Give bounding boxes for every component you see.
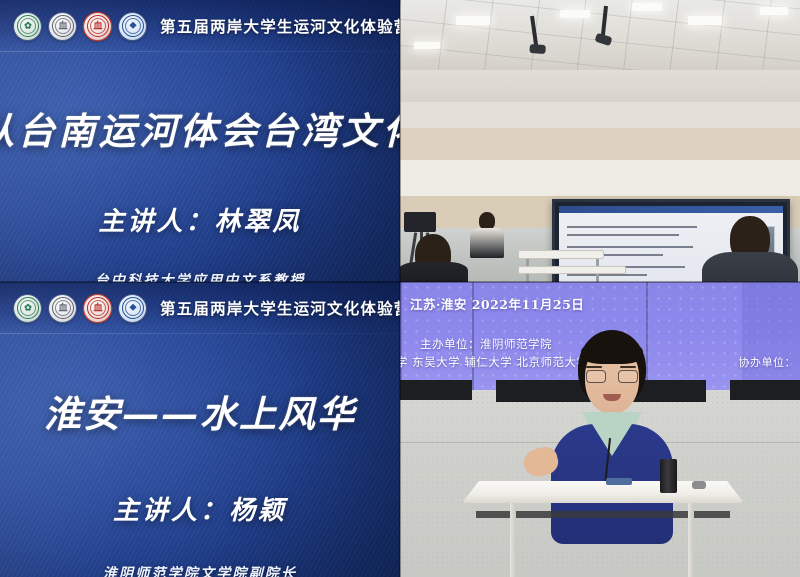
speaker-glasses: [586, 370, 638, 383]
photo-panel-classroom: [400, 0, 800, 282]
vertical-divider: [399, 0, 401, 577]
presenter-desk: [518, 250, 604, 259]
title-slide-top: ✿ 血 血 ❖ 第五届两岸大学生运河文化体验营 从台南运河体会台湾文: [0, 0, 400, 282]
classroom-audience-photo: [400, 0, 800, 282]
classroom-scene: [400, 0, 800, 282]
title-slide-bottom: ✿ 血 血 ❖ 第五届两岸大学生运河文化体验营 淮安——水上风华: [0, 282, 400, 577]
wall-band-tan: [400, 128, 800, 162]
side-table: [518, 266, 626, 274]
speaker-brow-right: [620, 366, 636, 368]
logo-university-blue: ❖: [119, 295, 146, 322]
ceiling-light: [688, 16, 722, 25]
ceiling-light: [414, 42, 440, 49]
dark-backdrop-left: [400, 380, 472, 400]
slide-text-line: [567, 274, 647, 276]
ceiling-light: [760, 7, 788, 15]
speaker-fringe: [581, 340, 643, 364]
projection-right-panel: [742, 282, 800, 394]
event-banner-title: 第五届两岸大学生运河文化体验营: [160, 297, 400, 319]
slide-header-top: ✿ 血 血 ❖ 第五届两岸大学生运河文化体验营: [0, 0, 400, 52]
ceiling-light: [632, 3, 662, 11]
projection-organizer: 主办单位：淮阴师范学院: [420, 336, 552, 352]
smartphone-on-desk: [606, 478, 632, 485]
slide-header-bottom: ✿ 血 血 ❖ 第五届两岸大学生运河文化体验营: [0, 282, 400, 334]
dark-backdrop-right: [730, 380, 800, 400]
wall-band-cream: [400, 160, 800, 198]
slide-text-line: [567, 234, 679, 236]
slide-text-line: [567, 226, 697, 228]
small-object-on-desk: [692, 481, 706, 489]
wall-upper: [400, 70, 800, 104]
horizontal-divider: [0, 281, 800, 283]
slide-body-top: 从台南运河体会台湾文化 主讲人：林翠凤 台中科技大学应用中文系教授: [0, 52, 400, 282]
slide-speaker-top: 主讲人：林翠凤: [98, 201, 301, 238]
desk-leg: [510, 503, 516, 577]
projection-coorganizer: 协办单位：: [739, 354, 797, 370]
foreground-student-left: [400, 234, 468, 282]
header-underline: [0, 333, 400, 334]
slide-title-bar: [559, 206, 783, 213]
slide-title-bottom: 淮安——水上风华: [44, 384, 356, 438]
logo-university-red: 血: [84, 295, 111, 322]
logo-university-red: 血: [84, 13, 111, 40]
lecture-room-scene: 江苏·淮安 2022年11月25日 主办单位：淮阴师范学院 学 东吴大学 辅仁大…: [400, 282, 800, 577]
lecture-desk: [462, 481, 744, 577]
header-underline: [0, 51, 400, 52]
slide-speaker-bottom: 主讲人：杨颖: [113, 490, 287, 527]
ceiling-light: [456, 16, 490, 25]
photo-panel-lecture: 江苏·淮安 2022年11月25日 主办单位：淮阴师范学院 学 东吴大学 辅仁大…: [400, 282, 800, 577]
logo-huaiyin-normal-university: ✿: [14, 13, 41, 40]
logo-university-grey: 血: [49, 13, 76, 40]
screenshot-collage: ✿ 血 血 ❖ 第五届两岸大学生运河文化体验营 从台南运河体会台湾文: [0, 0, 800, 577]
speaker-brow-left: [586, 366, 602, 368]
thermos-flask: [660, 459, 677, 493]
slide-panel-top-left: ✿ 血 血 ❖ 第五届两岸大学生运河文化体验营 从台南运河体会台湾文: [0, 0, 400, 282]
video-camera: [404, 212, 436, 232]
logo-university-grey: 血: [49, 295, 76, 322]
wall-band-light: [400, 102, 800, 130]
slide-affiliation-bottom: 淮阴师范学院文学院副院长: [103, 563, 297, 577]
speaker-at-desk-photo: 江苏·淮安 2022年11月25日 主办单位：淮阴师范学院 学 东吴大学 辅仁大…: [400, 282, 800, 577]
logo-huaiyin-normal-university: ✿: [14, 295, 41, 322]
slide-panel-bottom-left: ✿ 血 血 ❖ 第五届两岸大学生运河文化体验营 淮安——水上风华: [0, 282, 400, 577]
slide-title-top: 从台南运河体会台湾文化: [0, 101, 400, 155]
slide-text-line: [567, 246, 693, 248]
slide-body-bottom: 淮安——水上风华 主讲人：杨颖 淮阴师范学院文学院副院长: [0, 334, 400, 577]
ceiling-light: [560, 10, 590, 18]
projection-location-date: 江苏·淮安 2022年11月25日: [410, 294, 584, 313]
event-banner-title: 第五届两岸大学生运河文化体验营: [160, 15, 400, 37]
foreground-student: [702, 216, 798, 282]
presenter-seated: [470, 212, 504, 258]
logo-university-blue: ❖: [119, 13, 146, 40]
desk-leg: [688, 503, 694, 577]
